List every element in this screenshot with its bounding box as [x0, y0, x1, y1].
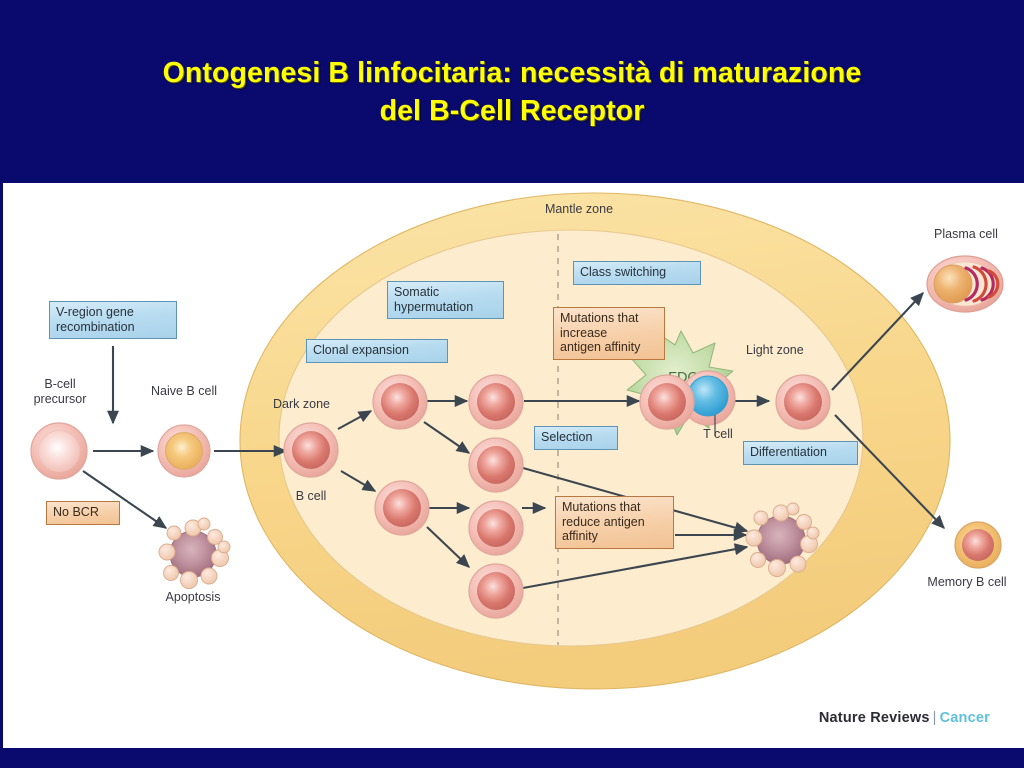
cell-memory-b-cell — [955, 522, 1001, 568]
cell-b-cell — [284, 423, 338, 477]
figure-panel: FDC — [3, 183, 1024, 748]
cell-blast-lower — [375, 481, 429, 535]
label-b-cell: B cell — [276, 489, 346, 504]
label-plasma-cell: Plasma cell — [908, 227, 1024, 242]
germinal-center-diagram: FDC — [3, 183, 1024, 748]
box-differentiation[interactable]: Differentiation — [743, 441, 858, 465]
cell-light-zone-b-cell — [776, 375, 830, 429]
cell-centrocyte-1 — [469, 375, 523, 429]
figure-credit: Nature Reviews|Cancer — [819, 710, 990, 726]
credit-journal: Cancer — [940, 710, 990, 726]
box-mutations-increase-affinity[interactable]: Mutations that increase antigen affinity — [553, 307, 665, 360]
cell-centrocyte-4 — [469, 564, 523, 618]
label-dark-zone: Dark zone — [273, 397, 330, 412]
box-no-bcr[interactable]: No BCR — [46, 501, 120, 525]
cell-blast-upper — [373, 375, 427, 429]
title-line-2: del B-Cell Receptor — [380, 92, 645, 130]
box-clonal-expansion[interactable]: Clonal expansion — [306, 339, 448, 363]
slide-root: Ontogenesi B linfocitaria: necessità di … — [0, 0, 1024, 768]
title-line-1: Ontogenesi B linfocitaria: necessità di … — [163, 54, 862, 92]
cell-apoptosis-left — [159, 518, 230, 589]
cell-centrocyte-3 — [469, 501, 523, 555]
credit-publisher: Nature Reviews — [819, 710, 930, 726]
diagram-graphics: FDC — [3, 183, 1024, 748]
cell-selected-b-cell — [640, 375, 694, 429]
cell-naive-b-cell — [158, 425, 210, 477]
box-v-region-gene-recombination[interactable]: V-region gene recombination — [49, 301, 177, 339]
credit-separator: | — [930, 710, 940, 726]
label-b-cell-precursor: B-cell precursor — [11, 377, 109, 406]
box-class-switching[interactable]: Class switching — [573, 261, 701, 285]
label-t-cell: T cell — [688, 427, 748, 442]
box-somatic-hypermutation[interactable]: Somatic hypermutation — [387, 281, 504, 319]
label-naive-b-cell: Naive B cell — [128, 384, 240, 399]
label-apoptosis: Apoptosis — [139, 590, 247, 605]
label-memory-b-cell: Memory B cell — [905, 575, 1024, 590]
label-light-zone: Light zone — [746, 343, 804, 358]
cell-plasma-cell — [927, 256, 1003, 312]
slide-title: Ontogenesi B linfocitaria: necessità di … — [0, 0, 1024, 183]
box-mutations-reduce-affinity[interactable]: Mutations that reduce antigen affinity — [555, 496, 674, 549]
label-mantle-zone: Mantle zone — [524, 202, 634, 217]
cell-b-cell-precursor — [31, 423, 87, 479]
cell-centrocyte-2 — [469, 438, 523, 492]
box-selection[interactable]: Selection — [534, 426, 618, 450]
